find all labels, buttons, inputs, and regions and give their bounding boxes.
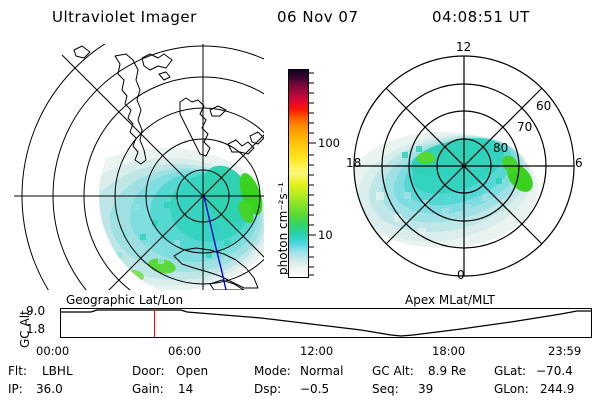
mlat-label-60: 60 — [536, 99, 551, 113]
colorbar-tick-100: 100 — [318, 136, 340, 150]
status-ip-label: IP: — [8, 382, 23, 396]
status-block: Flt: LBHL Door: Open Mode: Normal GC Alt… — [8, 364, 592, 398]
status-door-label: Door: — [132, 364, 165, 378]
status-gain-label: Gain: — [132, 382, 164, 396]
time-tick-0600: 06:00 — [168, 344, 201, 358]
mlat-label-80: 80 — [493, 141, 508, 155]
current-time-marker[interactable] — [154, 309, 155, 337]
mlt-label-12: 12 — [456, 40, 471, 54]
time-tick-2359: 23:59 — [548, 344, 581, 358]
aurora-emission-region — [52, 148, 276, 292]
status-glat-label: GLat: — [494, 364, 526, 378]
status-gain-value: 14 — [178, 382, 193, 396]
status-gcalt-value: 8.9 Re — [428, 364, 466, 378]
status-dsp-value: −0.5 — [300, 382, 329, 396]
status-seq-value: 39 — [418, 382, 433, 396]
mlat-label-70: 70 — [517, 120, 532, 134]
altitude-trace — [61, 310, 591, 336]
geographic-polar-plot[interactable] — [14, 44, 264, 290]
status-seq-label: Seq: — [372, 382, 399, 396]
gc-altitude-plot[interactable]: GC Alt 9.0 1.8 — [4, 306, 596, 340]
left-panel-caption: Geographic Lat/Lon — [66, 293, 183, 307]
mlt-label-18: 18 — [346, 156, 361, 170]
observation-time: 04:08:51 UT — [432, 8, 530, 26]
mlt-label-0: 0 — [457, 268, 465, 282]
status-mode-label: Mode: — [254, 364, 291, 378]
alt-plot-frame — [60, 308, 592, 338]
colorbar-ticks — [309, 69, 317, 279]
status-door-value: Open — [176, 364, 208, 378]
time-tick-0000: 00:00 — [36, 344, 69, 358]
status-mode-value: Normal — [300, 364, 343, 378]
status-flt-label: Flt: — [8, 364, 27, 378]
status-glon-label: GLon: — [494, 382, 529, 396]
colorbar-tick-10: 10 — [318, 228, 333, 242]
status-glon-value: 244.9 — [540, 382, 574, 396]
status-gcalt-label: GC Alt: — [372, 364, 414, 378]
status-ip-value: 36.0 — [36, 382, 63, 396]
alt-tick-min: 1.8 — [26, 322, 45, 336]
mlt-label-6: 6 — [575, 156, 583, 170]
observation-date: 06 Nov 07 — [277, 8, 359, 26]
apex-mlt-dial-plot[interactable]: 12 18 6 0 60 70 80 — [338, 42, 590, 292]
time-tick-1200: 12:00 — [300, 344, 333, 358]
status-flt-value: LBHL — [42, 364, 73, 378]
status-dsp-label: Dsp: — [254, 382, 281, 396]
status-glat-value: −70.4 — [536, 364, 573, 378]
instrument-title: Ultraviolet Imager — [52, 8, 197, 26]
colorbar-gradient — [288, 69, 309, 278]
right-panel-caption: Apex MLat/MLT — [405, 293, 495, 307]
alt-tick-max: 9.0 — [26, 304, 45, 318]
time-tick-1800: 18:00 — [432, 344, 465, 358]
colorbar-group: photon cm⁻²s⁻¹ 100 10 — [262, 60, 338, 285]
mlt-spokes — [354, 56, 574, 276]
